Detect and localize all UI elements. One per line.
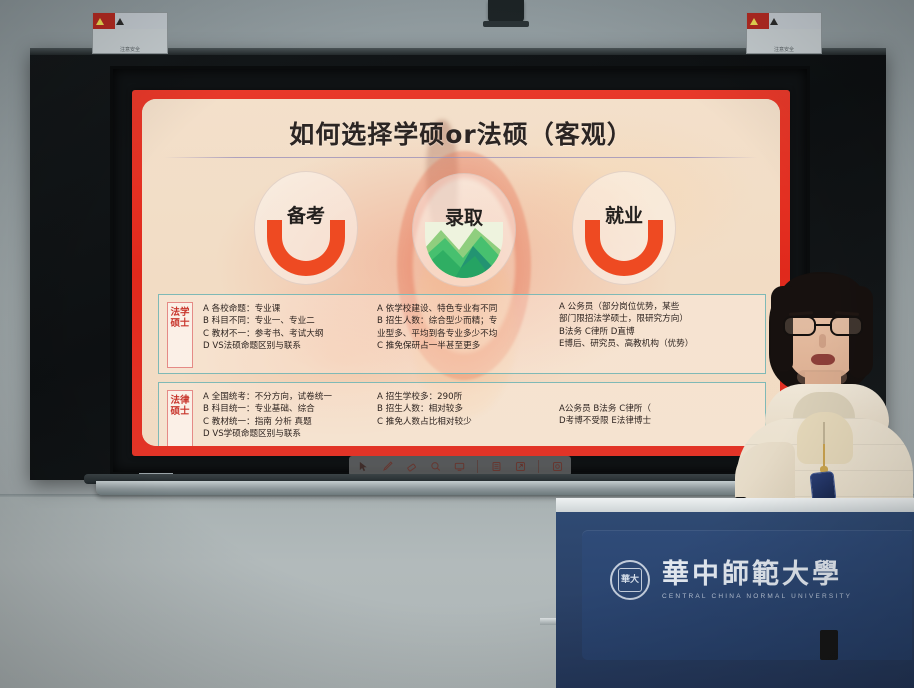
university-name-cn: 華中師範大學 xyxy=(662,561,852,589)
nose xyxy=(819,334,826,348)
magnifier-icon[interactable] xyxy=(429,460,441,472)
keyboard-icon[interactable] xyxy=(490,460,502,472)
row2-col-preparation: A 全国统考：不分方向，试卷统一 B 科目统一：专业基础、综合 C 教材统一：指… xyxy=(203,391,378,441)
concept-circle-label: 录取 xyxy=(412,203,516,230)
presentation-slide[interactable]: 如何选择学硕or法硕（客观） 备考 xyxy=(142,99,780,446)
warning-sticker-left: 注意安全 xyxy=(92,12,168,54)
university-name-en: CENTRAL CHINA NORMAL UNIVERSITY xyxy=(662,593,852,600)
cursor-icon[interactable] xyxy=(357,460,369,472)
warning-sticker-left-text: 注意安全 xyxy=(93,29,167,69)
row1-col-employment: A 公务员（部分岗位优势，某些 部门限招法学硕士，限研究方向） B法务 C律所 … xyxy=(559,301,759,351)
glasses-lens-left xyxy=(783,316,816,336)
row2-col-employment: A公务员 B法务 C律所（ D考博不受限 E法律博士 xyxy=(559,403,759,428)
mouth xyxy=(811,354,835,365)
slide-red-frame: 如何选择学硕or法硕（客观） 备考 xyxy=(132,90,790,456)
university-name-block: 華中師範大學 CENTRAL CHINA NORMAL UNIVERSITY xyxy=(662,561,852,600)
concept-circles: 备考 xyxy=(142,171,780,287)
glasses-icon xyxy=(783,316,863,336)
export-icon[interactable] xyxy=(514,460,526,472)
screen-icon[interactable] xyxy=(453,460,465,472)
concept-circle-label: 备考 xyxy=(254,201,358,228)
lectern-branding-panel: 華大 華中師範大學 CENTRAL CHINA NORMAL UNIVERSIT… xyxy=(582,530,912,660)
concept-circle-beikao[interactable]: 备考 xyxy=(254,171,358,285)
hazard-triangle-icon xyxy=(770,18,778,25)
warning-sticker-right: 注意安全 xyxy=(746,12,822,54)
warning-triangle-icon xyxy=(96,18,104,25)
warning-sticker-left-band xyxy=(93,13,167,29)
toolbar-separator xyxy=(538,460,539,473)
university-logo: 華大 華中師範大學 CENTRAL CHINA NORMAL UNIVERSIT… xyxy=(610,560,852,600)
university-seal-text: 華大 xyxy=(618,568,642,592)
lectern-body: 華大 華中師範大學 CENTRAL CHINA NORMAL UNIVERSIT… xyxy=(556,512,914,688)
warning-sticker-right-band xyxy=(747,13,821,29)
glasses-bridge xyxy=(816,324,830,326)
pen-icon[interactable] xyxy=(381,460,393,472)
concept-circle-jiuye[interactable]: 就业 xyxy=(572,171,676,285)
row-tag-professional-master: 法律硕士 xyxy=(167,390,193,446)
hazard-triangle-icon xyxy=(116,18,124,25)
warning-triangle-icon xyxy=(750,18,758,25)
warning-sticker-right-text: 注意安全 xyxy=(747,29,821,69)
whiteboard-pen-tray xyxy=(96,481,820,495)
info-row-academic-master: 法学硕士 A 各校命题：专业课 B 科目不同：专业一、专业二 C 教材不一：参考… xyxy=(158,294,766,374)
apps-icon[interactable] xyxy=(551,460,563,472)
sweater xyxy=(797,412,853,464)
interactive-whiteboard[interactable]: 如何选择学硕or法硕（客观） 备考 xyxy=(110,66,810,475)
whiteboard-toolbar[interactable] xyxy=(349,456,571,476)
ceiling-projector-mount xyxy=(488,0,524,22)
toolbar-separator xyxy=(477,460,478,473)
glasses-lens-right xyxy=(830,316,863,336)
eraser-icon[interactable] xyxy=(405,460,417,472)
row1-col-preparation: A 各校命题：专业课 B 科目不同：专业一、专业二 C 教材不一：参考书、考试大… xyxy=(203,303,378,353)
row2-col-admission: A 招生学校多：290所 B 招生人数：相对较多 C 推免人数占比相对较少 xyxy=(377,391,557,428)
row1-col-admission: A 依学校建设、特色专业有不同 B 招生人数：综合型少而精；专 业型多、平均到各… xyxy=(377,303,562,353)
row-tag-academic-master: 法学硕士 xyxy=(167,302,193,368)
classroom-scene: 注意安全 注意安全 如何选择学硕or法硕（客观） xyxy=(0,0,914,688)
lectern: 華大 華中師範大學 CENTRAL CHINA NORMAL UNIVERSIT… xyxy=(556,498,914,688)
info-row-professional-master: 法律硕士 A 全国统考：不分方向，试卷统一 B 科目统一：专业基础、综合 C 教… xyxy=(158,382,766,446)
desk-device xyxy=(820,630,838,660)
concept-circle-luqu[interactable]: 录取 xyxy=(412,173,516,287)
concept-circle-label: 就业 xyxy=(572,201,676,228)
title-divider xyxy=(164,157,758,158)
slide-title: 如何选择学硕or法硕（客观） xyxy=(142,115,780,151)
university-seal-icon: 華大 xyxy=(610,560,650,600)
